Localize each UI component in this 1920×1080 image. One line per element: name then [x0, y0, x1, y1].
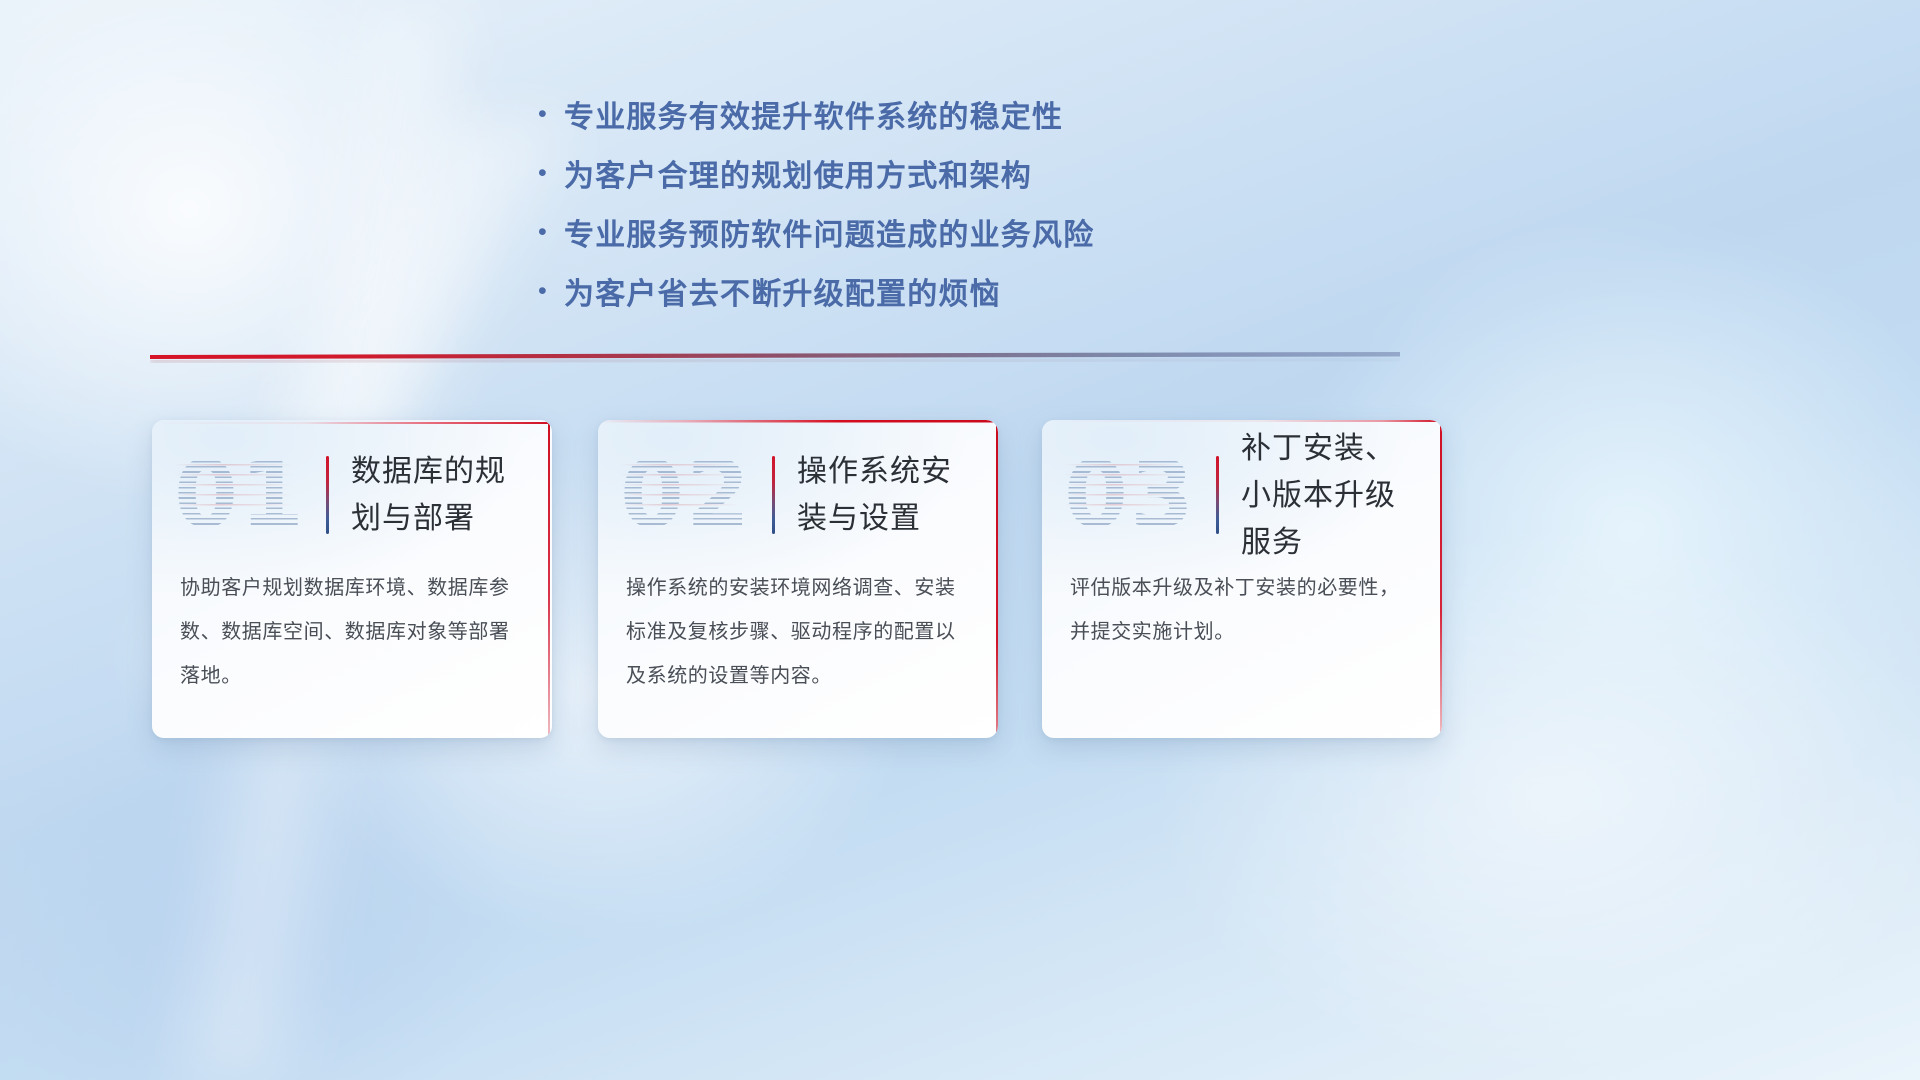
card-description: 评估版本升级及补丁安装的必要性，并提交实施计划。: [1042, 566, 1442, 654]
bullet-dot-icon: •: [534, 102, 564, 127]
service-card-02[interactable]: 02 操作系统安装与设置 操作系统的安装环境网络调查、安装标准及复核步骤、驱动程…: [598, 420, 998, 738]
list-item: • 为客户省去不断升级配置的烦恼: [534, 265, 1354, 317]
list-item: • 专业服务有效提升软件系统的稳定性: [534, 88, 1354, 140]
bullet-text: 专业服务预防软件问题造成的业务风险: [564, 210, 1094, 254]
service-card-01[interactable]: 01 数据库的规划与部署 协助客户规划数据库环境、数据库参数、数据库空间、数据库…: [152, 420, 552, 738]
bullet-dot-icon: •: [534, 161, 564, 186]
card-description: 操作系统的安装环境网络调查、安装标准及复核步骤、驱动程序的配置以及系统的设置等内…: [598, 566, 998, 698]
benefits-bullet-list: • 专业服务有效提升软件系统的稳定性 • 为客户合理的规划使用方式和架构 • 专…: [534, 88, 1354, 324]
slide-canvas: • 专业服务有效提升软件系统的稳定性 • 为客户合理的规划使用方式和架构 • 专…: [0, 0, 1920, 1080]
service-card-03[interactable]: 03 补丁安装、小版本升级服务 评估版本升级及补丁安装的必要性，并提交实施计划。: [1042, 420, 1442, 738]
divider-shadow: [150, 358, 1400, 363]
card-header: 01 数据库的规划与部署: [152, 420, 552, 570]
card-divider-bar: [772, 456, 775, 534]
bullet-dot-icon: •: [534, 279, 564, 304]
card-title: 操作系统安装与设置: [797, 448, 973, 542]
card-title: 补丁安装、小版本升级服务: [1241, 425, 1417, 566]
divider-line: [150, 352, 1400, 359]
card-divider-bar: [1216, 456, 1219, 534]
card-header: 03 补丁安装、小版本升级服务: [1042, 420, 1442, 570]
list-item: • 专业服务预防软件问题造成的业务风险: [534, 206, 1354, 258]
section-divider: [150, 348, 1400, 364]
bullet-text: 为客户省去不断升级配置的烦恼: [564, 269, 1001, 313]
bullet-text: 专业服务有效提升软件系统的稳定性: [564, 92, 1063, 136]
card-number-decoration: 03: [1064, 440, 1214, 550]
card-divider-bar: [326, 456, 329, 534]
service-card-group: 01 数据库的规划与部署 协助客户规划数据库环境、数据库参数、数据库空间、数据库…: [150, 420, 1450, 745]
card-number-decoration: 01: [174, 440, 324, 550]
card-number-decoration: 02: [620, 440, 770, 550]
card-title: 数据库的规划与部署: [351, 448, 527, 542]
list-item: • 为客户合理的规划使用方式和架构: [534, 147, 1354, 199]
bullet-dot-icon: •: [534, 220, 564, 245]
card-header: 02 操作系统安装与设置: [598, 420, 998, 570]
bullet-text: 为客户合理的规划使用方式和架构: [564, 151, 1032, 195]
card-description: 协助客户规划数据库环境、数据库参数、数据库空间、数据库对象等部署落地。: [152, 566, 552, 698]
